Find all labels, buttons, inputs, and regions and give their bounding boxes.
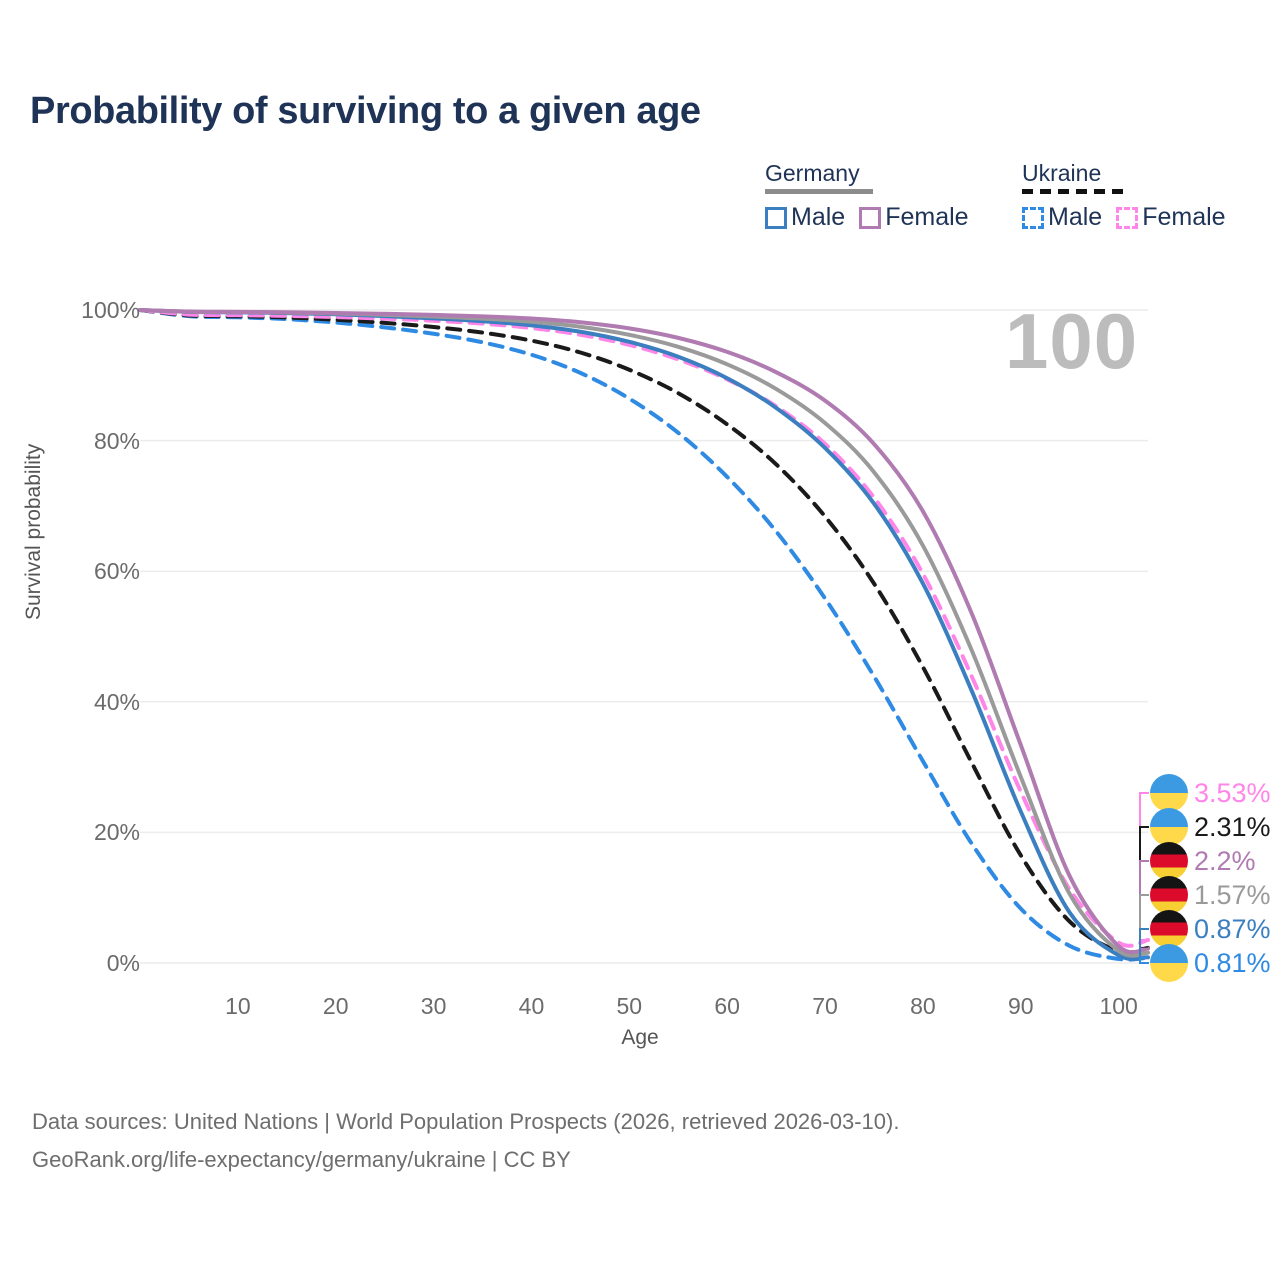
series-line-ukraine-male: [140, 310, 1148, 960]
end-label-value: 2.31%: [1194, 812, 1271, 843]
end-label-value: 1.57%: [1194, 880, 1271, 911]
plot-area: [0, 0, 1280, 1280]
end-label-value: 0.81%: [1194, 948, 1271, 979]
flag-icon-ua: [1150, 944, 1188, 982]
x-axis-title: Age: [621, 1026, 658, 1050]
end-label-value: 2.2%: [1194, 846, 1256, 877]
x-tick-label: 60: [714, 993, 740, 1020]
x-tick-label: 70: [812, 993, 838, 1020]
y-axis-title: Survival probability: [22, 444, 46, 620]
x-tick-label: 100: [1099, 993, 1137, 1020]
x-tick-label: 10: [225, 993, 251, 1020]
x-tick-label: 30: [421, 993, 447, 1020]
x-tick-label: 20: [323, 993, 349, 1020]
y-tick-label: 20%: [94, 819, 140, 846]
x-tick-label: 40: [519, 993, 545, 1020]
end-label-ukraine-male: 0.81%: [1150, 943, 1271, 983]
watermark-age-100: 100: [1005, 296, 1138, 387]
footer-line-1: Data sources: United Nations | World Pop…: [32, 1103, 899, 1141]
y-tick-label: 40%: [94, 689, 140, 716]
y-tick-label: 80%: [94, 428, 140, 455]
y-tick-label: 0%: [107, 950, 140, 977]
footer-line-2: GeoRank.org/life-expectancy/germany/ukra…: [32, 1141, 899, 1179]
footer-sources: Data sources: United Nations | World Pop…: [32, 1103, 899, 1179]
end-label-connector: [1140, 861, 1149, 949]
y-tick-label: 60%: [94, 558, 140, 585]
survival-curves-svg: [0, 0, 1280, 1280]
series-line-ukraine-female: [140, 310, 1148, 946]
end-label-value: 0.87%: [1194, 914, 1271, 945]
x-tick-label: 80: [910, 993, 936, 1020]
end-label-connector: [1140, 793, 1149, 940]
x-tick-label: 90: [1008, 993, 1034, 1020]
x-tick-label: 50: [617, 993, 643, 1020]
end-label-value: 3.53%: [1194, 778, 1271, 809]
y-tick-label: 100%: [81, 297, 140, 324]
